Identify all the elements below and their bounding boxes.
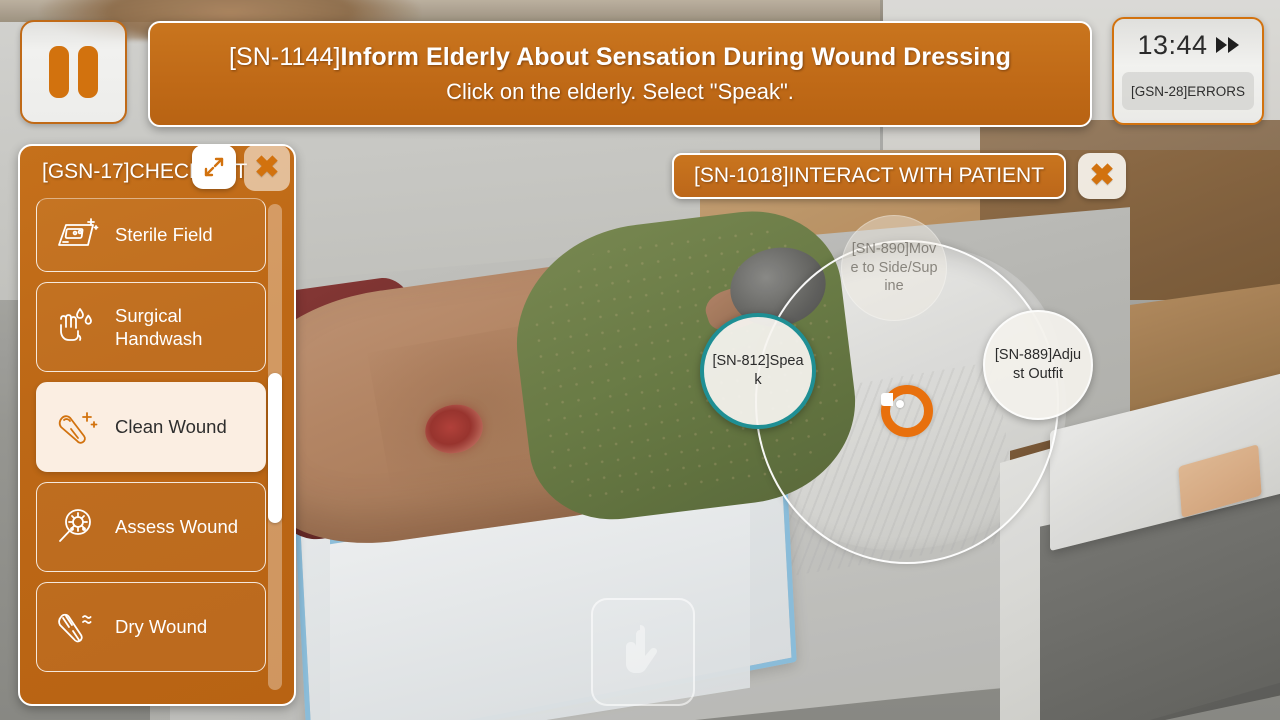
checklist-item-label: Surgical Handwash [115,304,265,350]
pause-button[interactable] [20,20,127,124]
objective-title-text: Inform Elderly About Sensation During Wo… [341,43,1012,71]
radial-node-label: [SN-812]Speak [704,352,812,389]
pause-icon [49,46,69,98]
expand-icon[interactable] [192,145,236,189]
handwash-icon [51,303,103,351]
checklist-panel: [GSN-17]CHECKLIST ✖ [18,144,296,706]
timer-panel: 13:44 [GSN-28]ERRORS [1112,17,1264,125]
objective-instruction: Click on the elderly. Select "Speak". [446,79,794,105]
timer-row: 13:44 [1114,19,1262,71]
checklist-scrollbar-thumb[interactable] [268,373,282,523]
interact-header: [SN-1018]INTERACT WITH PATIENT ✖ [672,153,1126,199]
checklist-item-dry-wound[interactable]: Dry Wound [36,582,266,672]
sterile-field-icon [51,211,103,259]
errors-badge[interactable]: [GSN-28]ERRORS [1122,72,1254,110]
errors-label: [GSN-28]ERRORS [1131,84,1245,99]
checklist-item-surgical-handwash[interactable]: Surgical Handwash [36,282,266,372]
radial-node-move-to-side-supine[interactable]: [SN-890]Move to Side/Supine [841,215,947,321]
clean-wound-icon [51,403,103,451]
checklist-item-sterile-field[interactable]: Sterile Field [36,198,266,272]
interact-with-patient-banner[interactable]: [SN-1018]INTERACT WITH PATIENT [672,153,1066,199]
radial-node-label: [SN-890]Move to Side/Supine [842,240,946,296]
checklist-item-assess-wound[interactable]: Assess Wound [36,482,266,572]
hand-pointer-hint[interactable] [591,598,695,706]
pause-icon [78,46,98,98]
checklist-item-label: Clean Wound [115,415,227,438]
objective-banner: [SN-1144]Inform Elderly About Sensation … [148,21,1092,127]
timer-value: 13:44 [1137,30,1207,61]
radial-node-adjust-outfit[interactable]: [SN-889]Adjust Outfit [983,310,1093,420]
hud-overlay: [SN-1144]Inform Elderly About Sensation … [0,0,1280,720]
checklist-item-label: Assess Wound [115,515,238,538]
checklist-item-label: Sterile Field [115,223,213,246]
objective-code: [SN-1144] [229,43,341,71]
objective-title: [SN-1144]Inform Elderly About Sensation … [229,43,1011,72]
checklist-body: Sterile Field [20,198,294,704]
checklist-item-label: Dry Wound [115,615,207,638]
close-icon[interactable]: ✖ [244,145,290,191]
dry-wound-icon [51,603,103,651]
close-icon[interactable]: ✖ [1078,153,1126,199]
checklist-header: [GSN-17]CHECKLIST ✖ [20,146,294,198]
hand-pointer-icon [618,621,668,683]
interact-banner-label: [SN-1018]INTERACT WITH PATIENT [694,164,1044,188]
checklist-items: Sterile Field [36,198,266,682]
radial-interaction-menu: [SN-890]Move to Side/Supine [SN-812]Spea… [755,240,1055,560]
radial-node-label: [SN-889]Adjust Outfit [985,346,1091,383]
game-screen: [SN-1144]Inform Elderly About Sensation … [0,0,1280,720]
fast-forward-icon[interactable] [1216,37,1239,53]
radial-node-speak[interactable]: [SN-812]Speak [700,313,816,429]
assess-wound-icon [51,503,103,551]
checklist-item-clean-wound[interactable]: Clean Wound [36,382,266,472]
radial-cursor-icon[interactable] [881,385,933,437]
